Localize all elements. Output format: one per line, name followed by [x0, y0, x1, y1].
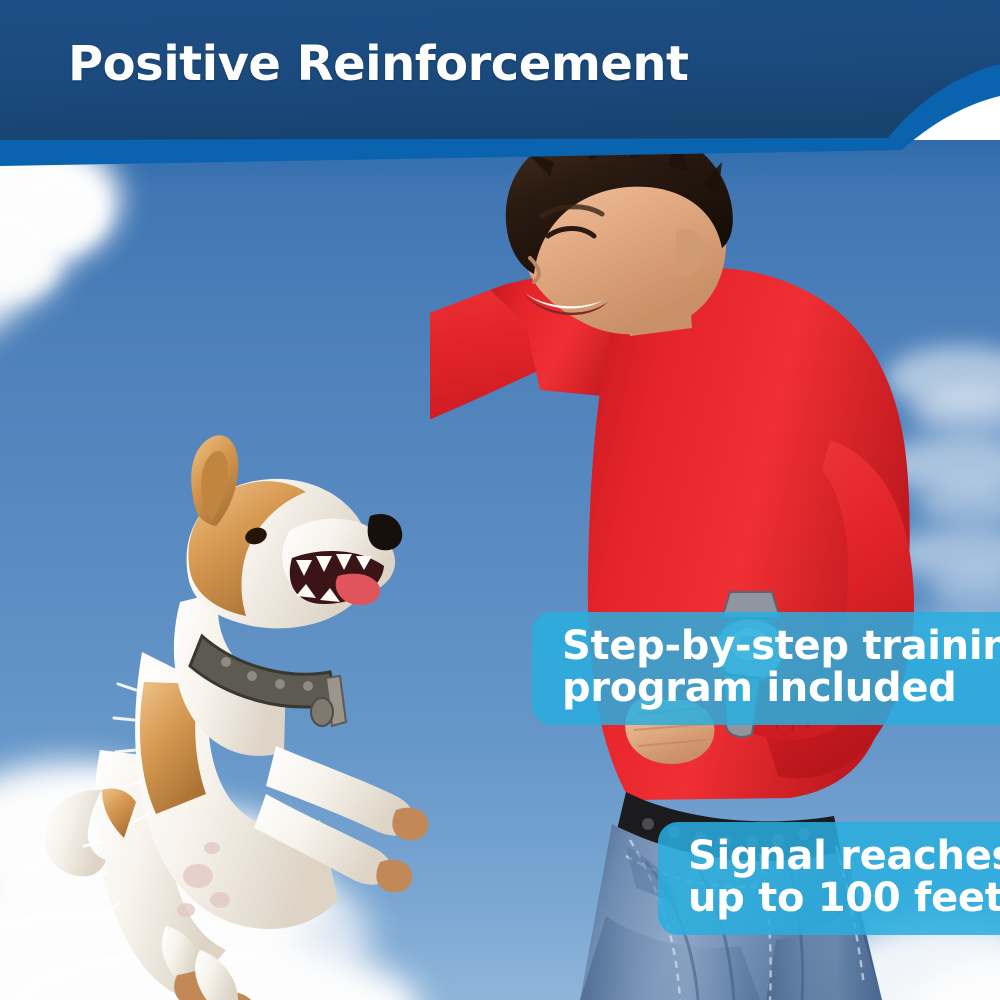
dog-front-paw-1 — [392, 808, 428, 841]
dog-nose — [368, 514, 403, 550]
callout-training-line1: Step-by-step training — [562, 626, 998, 668]
callout-signal-range: Signal reaches up to 100 feet — [658, 822, 1000, 935]
page-title: Positive Reinforcement — [68, 40, 689, 88]
dog-front-paw-2 — [376, 860, 412, 893]
callout-signal-line1: Signal reaches — [688, 836, 998, 878]
header-banner: Positive Reinforcement — [0, 0, 1000, 172]
product-feature-image: Positive Reinforcement Step-by-step trai… — [0, 0, 1000, 1000]
jumping-dog — [40, 390, 460, 1000]
callout-training-line2: program included — [562, 668, 998, 710]
callout-signal-line2: up to 100 feet — [688, 878, 998, 920]
callout-training-program: Step-by-step training program included — [532, 612, 1000, 725]
